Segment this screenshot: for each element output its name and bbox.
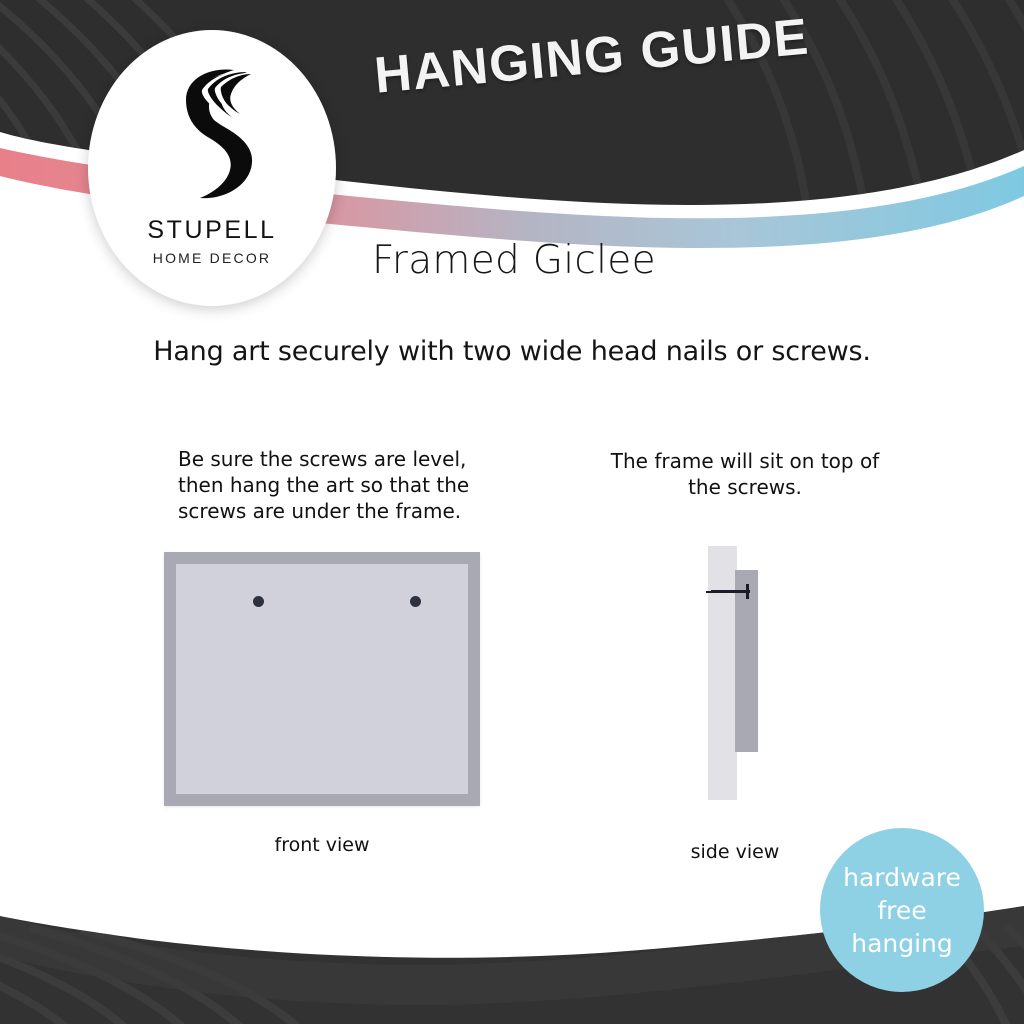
- hardware-free-hanging-badge: hardware free hanging: [820, 828, 984, 992]
- front-view-caption: Be sure the screws are level, then hang …: [178, 446, 478, 524]
- screw-dot-right: [410, 596, 421, 607]
- page-title: HANGING GUIDE: [372, 6, 812, 104]
- stupell-swoosh-s-icon: [152, 58, 272, 210]
- brand-name: STUPELL: [147, 216, 276, 245]
- badge-line-3: hanging: [851, 927, 953, 960]
- front-view-mat: [176, 564, 468, 794]
- side-view-caption: The frame will sit on top of the screws.: [595, 448, 895, 500]
- side-view-label: side view: [615, 841, 855, 863]
- nail-shaft-icon: [711, 590, 750, 593]
- front-view-label: front view: [192, 834, 452, 856]
- badge-line-1: hardware: [843, 861, 961, 894]
- badge-line-2: free: [877, 894, 926, 927]
- product-name: Framed Giclee: [372, 238, 656, 283]
- main-instruction: Hang art securely with two wide head nai…: [0, 336, 1024, 367]
- wall-strip: [708, 546, 737, 800]
- side-view-diagram: [700, 546, 770, 808]
- nail-head-icon: [746, 584, 749, 599]
- brand-tagline: HOME DECOR: [153, 250, 271, 266]
- brand-logo-badge: STUPELL HOME DECOR: [88, 30, 336, 306]
- screw-dot-left: [253, 596, 264, 607]
- front-view-diagram: [164, 552, 480, 806]
- hanging-guide-page: STUPELL HOME DECOR HANGING GUIDE Framed …: [0, 0, 1024, 1024]
